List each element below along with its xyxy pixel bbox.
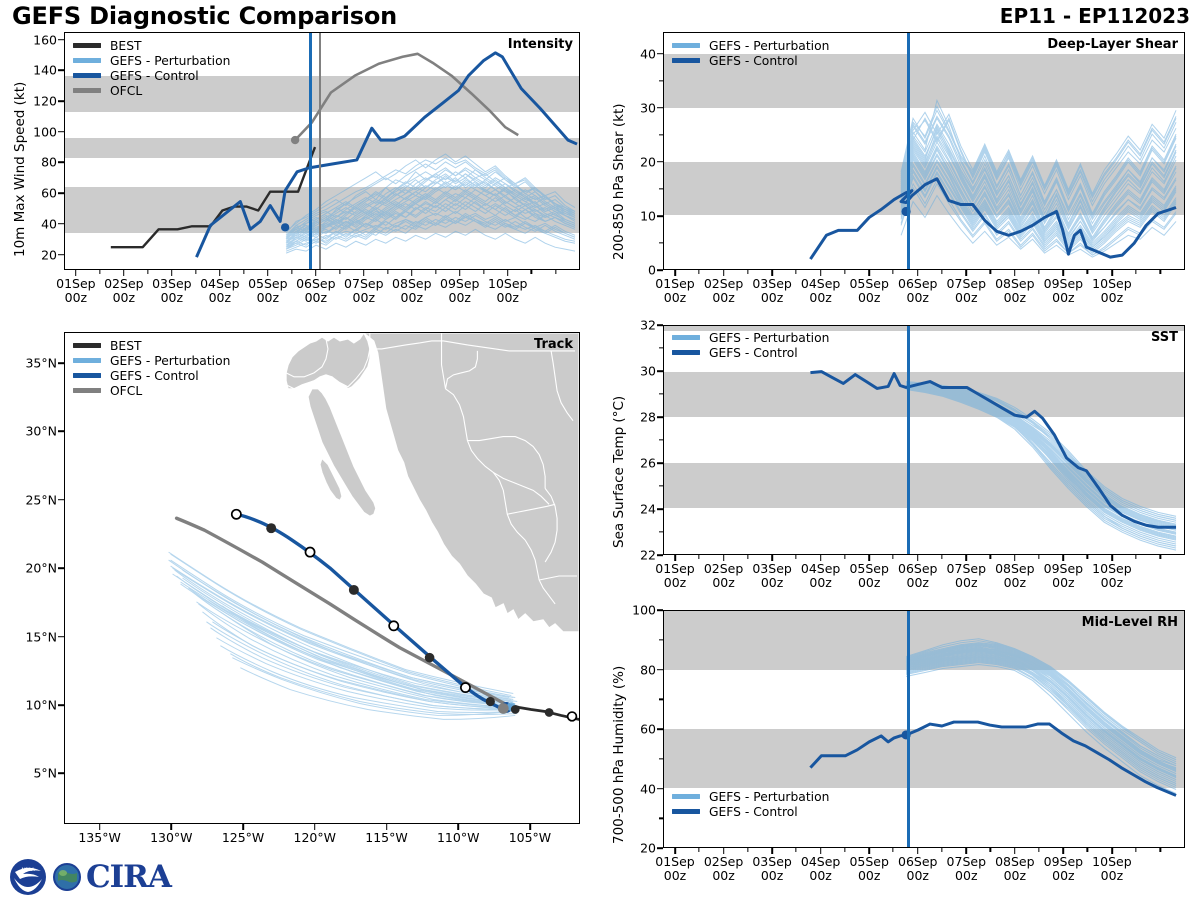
xtick-day: 03Sep xyxy=(752,276,791,291)
xtickmark-minor xyxy=(747,848,748,852)
xtick-hour: 00z xyxy=(712,868,734,883)
xtick-07sep: 07Sep00z xyxy=(947,562,986,591)
ytickmark xyxy=(657,161,663,163)
xtick-08sep: 08Sep00z xyxy=(995,855,1034,884)
xtickmark-minor xyxy=(795,848,796,852)
xtick-06sep: 06Sep00z xyxy=(898,277,937,306)
xtick-03sep: 03Sep00z xyxy=(752,277,791,306)
ytick-rh-60: 60 xyxy=(640,722,656,737)
xtick-10sep: 10Sep00z xyxy=(1092,855,1131,884)
ytick-track-35N: 35°N xyxy=(25,355,57,370)
xtick-05sep: 05Sep00z xyxy=(849,277,888,306)
legend-row-best: BEST xyxy=(73,338,230,353)
xtickmark-minor xyxy=(291,270,292,274)
gefs-init-line xyxy=(907,326,910,554)
cira-wordmark: CIRA xyxy=(86,862,171,893)
ytickmark xyxy=(657,554,663,556)
xtick-hour: 00z xyxy=(858,290,880,305)
xtick-day: 07Sep xyxy=(947,561,986,576)
legend-label-perturbation: GEFS - Perturbation xyxy=(709,790,829,804)
xtick-01sep: 01Sep00z xyxy=(655,855,694,884)
xtick-hour: 00z xyxy=(401,290,423,305)
ytick-track-15N: 15°N xyxy=(25,629,57,644)
ytickmark xyxy=(58,192,64,194)
legend-label-ofcl: OFCL xyxy=(110,384,142,398)
rh-panel: Mid-Level RH GEFS - Perturbation GEFS - … xyxy=(663,610,1185,848)
xtick-day: 07Sep xyxy=(947,854,986,869)
xtick-hour: 00z xyxy=(761,868,783,883)
rh-legend: GEFS - Perturbation GEFS - Control xyxy=(672,789,829,819)
xtick-08sep: 08Sep00z xyxy=(392,277,431,306)
legend-row-perturbation: GEFS - Perturbation xyxy=(73,353,230,368)
ytick-rh-20: 20 xyxy=(640,841,656,856)
xtickmark-minor xyxy=(795,270,796,274)
xtick-125W: 125°W xyxy=(222,831,264,845)
xtickmark-minor xyxy=(1038,848,1039,852)
gefs-init-line xyxy=(309,33,312,269)
ytickmark xyxy=(58,499,64,501)
sst-curves xyxy=(664,326,1184,554)
xtick-08sep: 08Sep00z xyxy=(995,562,1034,591)
intensity-panel: Intensity BEST GEFS - Perturbation GEFS … xyxy=(64,32,580,270)
xtick-day: 06Sep xyxy=(296,276,335,291)
ytickmark-minor xyxy=(659,758,663,759)
xtickmark-minor xyxy=(893,555,894,559)
legend-label-perturbation: GEFS - Perturbation xyxy=(110,54,230,68)
xtick-hour: 00z xyxy=(858,575,880,590)
xtickmark-minor xyxy=(941,270,942,274)
xtick-115W: 115°W xyxy=(365,831,407,845)
xtick-hour: 00z xyxy=(907,290,929,305)
xtick-hour: 00z xyxy=(1004,868,1026,883)
ytick-sst-28: 28 xyxy=(640,410,656,425)
ytickmark xyxy=(58,431,64,433)
xtick-06sep: 06Sep00z xyxy=(898,562,937,591)
xtick-hour: 00z xyxy=(907,575,929,590)
legend-row-control: GEFS - Control xyxy=(672,53,829,68)
sst-y-axis-label: Sea Surface Temp (°C) xyxy=(611,396,627,548)
track-panel-label: Track xyxy=(534,337,573,352)
xtickmark-minor xyxy=(387,270,388,274)
xtick-06sep: 06Sep00z xyxy=(898,855,937,884)
xtick-day: 09Sep xyxy=(1044,854,1083,869)
xtick-day: 02Sep xyxy=(704,276,743,291)
sst-legend: GEFS - Perturbation GEFS - Control xyxy=(672,330,829,360)
xtick-day: 09Sep xyxy=(440,276,479,291)
xtick-hour: 00z xyxy=(664,290,686,305)
legend-label-control: GEFS - Control xyxy=(709,54,798,68)
xtick-120W: 120°W xyxy=(294,831,336,845)
xtickmark-minor xyxy=(1038,270,1039,274)
xtick-04sep: 04Sep00z xyxy=(200,277,239,306)
gefs-diagnostic-page: GEFS Diagnostic Comparison EP11 - EP1120… xyxy=(0,0,1200,900)
rh-y-axis-label: 700-500 hPa Humidity (%) xyxy=(611,666,627,844)
ytickmark-minor xyxy=(659,188,663,189)
xtickmark-minor xyxy=(698,848,699,852)
xtick-day: 10Sep xyxy=(1092,276,1131,291)
legend-row-control: GEFS - Control xyxy=(672,345,829,360)
legend-row-control: GEFS - Control xyxy=(672,804,829,819)
ytickmark xyxy=(58,162,64,164)
legend-row-perturbation: GEFS - Perturbation xyxy=(73,53,230,68)
track-legend: BEST GEFS - Perturbation GEFS - Control … xyxy=(73,338,230,398)
xtickmark-minor xyxy=(747,270,748,274)
ytick-rh-40: 40 xyxy=(640,781,656,796)
legend-swatch-ofcl xyxy=(73,88,101,93)
ytick-intensity-140: 140 xyxy=(33,63,57,78)
xtick-05sep: 05Sep00z xyxy=(248,277,287,306)
xtick-hour: 00z xyxy=(761,290,783,305)
xtickmark-minor xyxy=(1135,555,1136,559)
shear-legend: GEFS - Perturbation GEFS - Control xyxy=(672,38,829,68)
xtick-day: 03Sep xyxy=(752,854,791,869)
legend-row-ofcl: OFCL xyxy=(73,383,230,398)
gefs-init-line xyxy=(907,611,910,847)
xtick-01sep: 01Sep00z xyxy=(655,277,694,306)
ytickmark-minor xyxy=(659,80,663,81)
cira-globe-icon xyxy=(52,862,82,892)
intensity-plot-area: Intensity BEST GEFS - Perturbation GEFS … xyxy=(64,32,580,270)
legend-swatch-perturbation xyxy=(672,794,700,799)
xtick-02sep: 02Sep00z xyxy=(104,277,143,306)
xtickmark-minor xyxy=(555,270,556,274)
xtick-hour: 00z xyxy=(955,290,977,305)
xtick-hour: 00z xyxy=(113,290,135,305)
xtick-hour: 00z xyxy=(664,868,686,883)
ytickmark xyxy=(58,773,64,775)
ytick-shear-30: 30 xyxy=(640,100,656,115)
xtick-110W: 110°W xyxy=(437,831,479,845)
legend-label-control: GEFS - Control xyxy=(110,69,199,83)
ytick-track-20N: 20°N xyxy=(25,561,57,576)
legend-swatch-perturbation xyxy=(672,43,700,48)
ytickmark-minor xyxy=(659,439,663,440)
shear-panel: Deep-Layer Shear GEFS - Perturbation GEF… xyxy=(663,32,1185,270)
ytick-shear-10: 10 xyxy=(640,208,656,223)
xtickmark-minor xyxy=(1160,555,1161,559)
ytickmark xyxy=(58,254,64,256)
logo-bar: NOAA CIRA xyxy=(8,858,171,896)
xtick-day: 07Sep xyxy=(947,276,986,291)
xtick-hour: 00z xyxy=(858,868,880,883)
xtick-hour: 00z xyxy=(1101,868,1123,883)
xtick-day: 05Sep xyxy=(248,276,287,291)
xtick-02sep: 02Sep00z xyxy=(704,562,743,591)
ytickmark xyxy=(657,269,663,271)
xtick-day: 02Sep xyxy=(704,854,743,869)
xtickmark-minor xyxy=(483,270,484,274)
xtick-day: 08Sep xyxy=(392,276,431,291)
xtickmark-minor xyxy=(893,270,894,274)
ytickmark-minor xyxy=(659,531,663,532)
xtick-hour: 00z xyxy=(761,575,783,590)
legend-row-best: BEST xyxy=(73,38,230,53)
xtickmark-minor xyxy=(195,270,196,274)
xtickmark-minor xyxy=(990,848,991,852)
xtick-135W: 135°W xyxy=(78,831,120,845)
ytick-sst-22: 22 xyxy=(640,548,656,563)
track-panel: Track BEST GEFS - Perturbation GEFS - Co… xyxy=(64,332,580,824)
xtickmark-minor xyxy=(747,555,748,559)
xtick-hour: 00z xyxy=(712,575,734,590)
sst-panel: SST GEFS - Perturbation GEFS - Control 3… xyxy=(663,325,1185,555)
ytickmark xyxy=(58,223,64,225)
xtick-day: 08Sep xyxy=(995,276,1034,291)
noaa-logo-icon: NOAA xyxy=(8,858,48,896)
ytick-intensity-40: 40 xyxy=(41,216,57,231)
xtickmark-minor xyxy=(990,555,991,559)
xtickmark-minor xyxy=(1160,848,1161,852)
xtick-09sep: 09Sep00z xyxy=(440,277,479,306)
xtick-02sep: 02Sep00z xyxy=(704,855,743,884)
xtickmark-minor xyxy=(339,270,340,274)
xtickmark-minor xyxy=(99,270,100,274)
xtick-07sep: 07Sep00z xyxy=(947,855,986,884)
xtick-hour: 00z xyxy=(449,290,471,305)
xtick-03sep: 03Sep00z xyxy=(752,562,791,591)
xtickmark-minor xyxy=(147,270,148,274)
ytickmark xyxy=(58,131,64,133)
shear-panel-label: Deep-Layer Shear xyxy=(1047,37,1178,52)
xtick-hour: 00z xyxy=(1101,290,1123,305)
xtickmark-minor xyxy=(531,270,532,274)
xtick-day: 10Sep xyxy=(1092,561,1131,576)
page-title: GEFS Diagnostic Comparison xyxy=(12,2,397,30)
legend-swatch-control xyxy=(672,58,700,63)
xtick-06sep: 06Sep00z xyxy=(296,277,335,306)
legend-row-perturbation: GEFS - Perturbation xyxy=(672,38,829,53)
xtick-day: 04Sep xyxy=(200,276,239,291)
ytick-shear-40: 40 xyxy=(640,46,656,61)
xtick-04sep: 04Sep00z xyxy=(801,277,840,306)
xtickmark-minor xyxy=(844,848,845,852)
xtick-day: 05Sep xyxy=(849,854,888,869)
ytickmark-minor xyxy=(659,818,663,819)
ytickmark xyxy=(58,70,64,72)
xtick-hour: 00z xyxy=(1004,575,1026,590)
xtickmark-minor xyxy=(844,270,845,274)
legend-row-ofcl: OFCL xyxy=(73,83,230,98)
shear-plot-area: Deep-Layer Shear GEFS - Perturbation GEF… xyxy=(663,32,1185,270)
xtick-hour: 00z xyxy=(712,290,734,305)
xtick-hour: 00z xyxy=(65,290,87,305)
xtick-08sep: 08Sep00z xyxy=(995,277,1034,306)
ytickmark-minor xyxy=(659,699,663,700)
xtick-day: 08Sep xyxy=(995,561,1034,576)
svg-text:NOAA: NOAA xyxy=(21,867,35,873)
legend-row-control: GEFS - Control xyxy=(73,368,230,383)
ytickmark xyxy=(58,39,64,41)
xtick-02sep: 02Sep00z xyxy=(704,277,743,306)
xtick-day: 07Sep xyxy=(344,276,383,291)
ytick-intensity-60: 60 xyxy=(41,186,57,201)
ytick-shear-20: 20 xyxy=(640,154,656,169)
legend-label-best: BEST xyxy=(110,39,142,53)
legend-swatch-best xyxy=(73,43,101,48)
xtickmark-minor xyxy=(1087,555,1088,559)
ytickmark-minor xyxy=(659,347,663,348)
xtickmark-minor xyxy=(941,848,942,852)
xtick-05sep: 05Sep00z xyxy=(849,562,888,591)
xtickmark-minor xyxy=(1087,270,1088,274)
sst-panel-label: SST xyxy=(1151,330,1178,345)
xtick-day: 01Sep xyxy=(655,561,694,576)
ytickmark xyxy=(657,462,663,464)
intensity-legend: BEST GEFS - Perturbation GEFS - Control … xyxy=(73,38,230,98)
legend-row-control: GEFS - Control xyxy=(73,68,230,83)
xtick-10sep: 10Sep00z xyxy=(1092,277,1131,306)
ytick-sst-30: 30 xyxy=(640,364,656,379)
xtick-01sep: 01Sep00z xyxy=(655,562,694,591)
rh-plot-area: Mid-Level RH GEFS - Perturbation GEFS - … xyxy=(663,610,1185,848)
xtickmark-minor xyxy=(698,270,699,274)
xtick-day: 01Sep xyxy=(655,276,694,291)
xtickmark-minor xyxy=(1135,848,1136,852)
ytick-intensity-80: 80 xyxy=(41,155,57,170)
xtick-130W: 130°W xyxy=(150,831,192,845)
xtickmark-minor xyxy=(243,270,244,274)
ytickmark xyxy=(657,215,663,217)
ytickmark-minor xyxy=(659,134,663,135)
xtick-09sep: 09Sep00z xyxy=(1044,855,1083,884)
ytick-rh-100: 100 xyxy=(632,603,656,618)
ytickmark xyxy=(657,416,663,418)
shear-y-axis-label: 200-850 hPa Shear (kt) xyxy=(611,103,627,260)
xtick-day: 02Sep xyxy=(704,561,743,576)
track-map xyxy=(65,333,579,823)
xtick-hour: 00z xyxy=(955,575,977,590)
ytickmark xyxy=(58,704,64,706)
xtick-hour: 00z xyxy=(1101,575,1123,590)
xtick-day: 06Sep xyxy=(898,854,937,869)
ytick-sst-26: 26 xyxy=(640,456,656,471)
xtick-hour: 00z xyxy=(809,575,831,590)
xtickmark-minor xyxy=(844,555,845,559)
ytickmark xyxy=(657,508,663,510)
ytickmark-minor xyxy=(659,485,663,486)
xtick-hour: 00z xyxy=(497,290,519,305)
rh-panel-label: Mid-Level RH xyxy=(1082,615,1178,630)
xtickmark-minor xyxy=(795,555,796,559)
xtick-04sep: 04Sep00z xyxy=(801,855,840,884)
ytickmark xyxy=(657,370,663,372)
ytick-intensity-100: 100 xyxy=(33,124,57,139)
intensity-panel-label: Intensity xyxy=(508,37,573,52)
ytick-rh-80: 80 xyxy=(640,662,656,677)
xtick-hour: 00z xyxy=(257,290,279,305)
ytickmark xyxy=(657,324,663,326)
xtickmark-minor xyxy=(990,270,991,274)
xtick-01sep: 01Sep00z xyxy=(56,277,95,306)
legend-label-control: GEFS - Control xyxy=(709,346,798,360)
legend-label-perturbation: GEFS - Perturbation xyxy=(110,354,230,368)
xtickmark-minor xyxy=(1135,270,1136,274)
ytickmark xyxy=(657,669,663,671)
xtick-09sep: 09Sep00z xyxy=(1044,562,1083,591)
xtick-day: 01Sep xyxy=(56,276,95,291)
legend-swatch-perturbation xyxy=(73,358,101,363)
xtick-07sep: 07Sep00z xyxy=(344,277,383,306)
xtickmark-minor xyxy=(698,555,699,559)
ytick-sst-32: 32 xyxy=(640,318,656,333)
xtick-day: 04Sep xyxy=(801,276,840,291)
xtickmark-minor xyxy=(1160,270,1161,274)
xtick-10sep: 10Sep00z xyxy=(488,277,527,306)
ytickmark xyxy=(58,362,64,364)
track-plot-area: Track BEST GEFS - Perturbation GEFS - Co… xyxy=(64,332,580,824)
ytickmark xyxy=(58,636,64,638)
ytickmark-minor xyxy=(659,393,663,394)
ytickmark-minor xyxy=(659,242,663,243)
xtick-105W: 105°W xyxy=(509,831,551,845)
xtick-day: 03Sep xyxy=(152,276,191,291)
xtick-hour: 00z xyxy=(305,290,327,305)
xtick-day: 06Sep xyxy=(898,561,937,576)
ofcl-init-line xyxy=(319,33,321,269)
ytick-sst-24: 24 xyxy=(640,502,656,517)
xtick-hour: 00z xyxy=(664,575,686,590)
legend-swatch-control xyxy=(672,350,700,355)
xtick-day: 04Sep xyxy=(801,561,840,576)
legend-label-perturbation: GEFS - Perturbation xyxy=(709,331,829,345)
ytickmark xyxy=(657,53,663,55)
xtick-05sep: 05Sep00z xyxy=(849,855,888,884)
xtickmark-minor xyxy=(435,270,436,274)
ytickmark xyxy=(657,847,663,849)
storm-identifier: EP11 - EP112023 xyxy=(1000,4,1190,28)
ytickmark xyxy=(657,107,663,109)
legend-label-perturbation: GEFS - Perturbation xyxy=(709,39,829,53)
ytickmark xyxy=(657,788,663,790)
ytick-track-10N: 10°N xyxy=(25,697,57,712)
xtick-day: 10Sep xyxy=(488,276,527,291)
xtick-day: 09Sep xyxy=(1044,561,1083,576)
xtick-hour: 00z xyxy=(1052,868,1074,883)
legend-swatch-ofcl xyxy=(73,388,101,393)
xtick-07sep: 07Sep00z xyxy=(947,277,986,306)
xtick-day: 06Sep xyxy=(898,276,937,291)
xtickmark-minor xyxy=(941,555,942,559)
legend-row-perturbation: GEFS - Perturbation xyxy=(672,789,829,804)
ytickmark xyxy=(58,567,64,569)
legend-label-best: BEST xyxy=(110,339,142,353)
xtick-hour: 00z xyxy=(809,868,831,883)
ytick-intensity-160: 160 xyxy=(33,32,57,47)
xtick-day: 02Sep xyxy=(104,276,143,291)
xtick-hour: 00z xyxy=(353,290,375,305)
ytick-intensity-120: 120 xyxy=(33,94,57,109)
ytick-track-25N: 25°N xyxy=(25,492,57,507)
ytickmark xyxy=(657,609,663,611)
ytickmark xyxy=(58,100,64,102)
legend-label-control: GEFS - Control xyxy=(110,369,199,383)
xtick-hour: 00z xyxy=(1052,575,1074,590)
xtick-hour: 00z xyxy=(161,290,183,305)
legend-label-control: GEFS - Control xyxy=(709,805,798,819)
legend-swatch-best xyxy=(73,343,101,348)
xtick-hour: 00z xyxy=(955,868,977,883)
xtick-day: 05Sep xyxy=(849,276,888,291)
xtick-hour: 00z xyxy=(1052,290,1074,305)
xtick-09sep: 09Sep00z xyxy=(1044,277,1083,306)
xtick-day: 03Sep xyxy=(752,561,791,576)
intensity-y-axis-label: 10m Max Wind Speed (kt) xyxy=(12,82,28,257)
xtick-04sep: 04Sep00z xyxy=(801,562,840,591)
xtick-day: 08Sep xyxy=(995,854,1034,869)
ytick-track-5N: 5°N xyxy=(33,766,57,781)
ytick-track-30N: 30°N xyxy=(25,424,57,439)
xtickmark-minor xyxy=(893,848,894,852)
